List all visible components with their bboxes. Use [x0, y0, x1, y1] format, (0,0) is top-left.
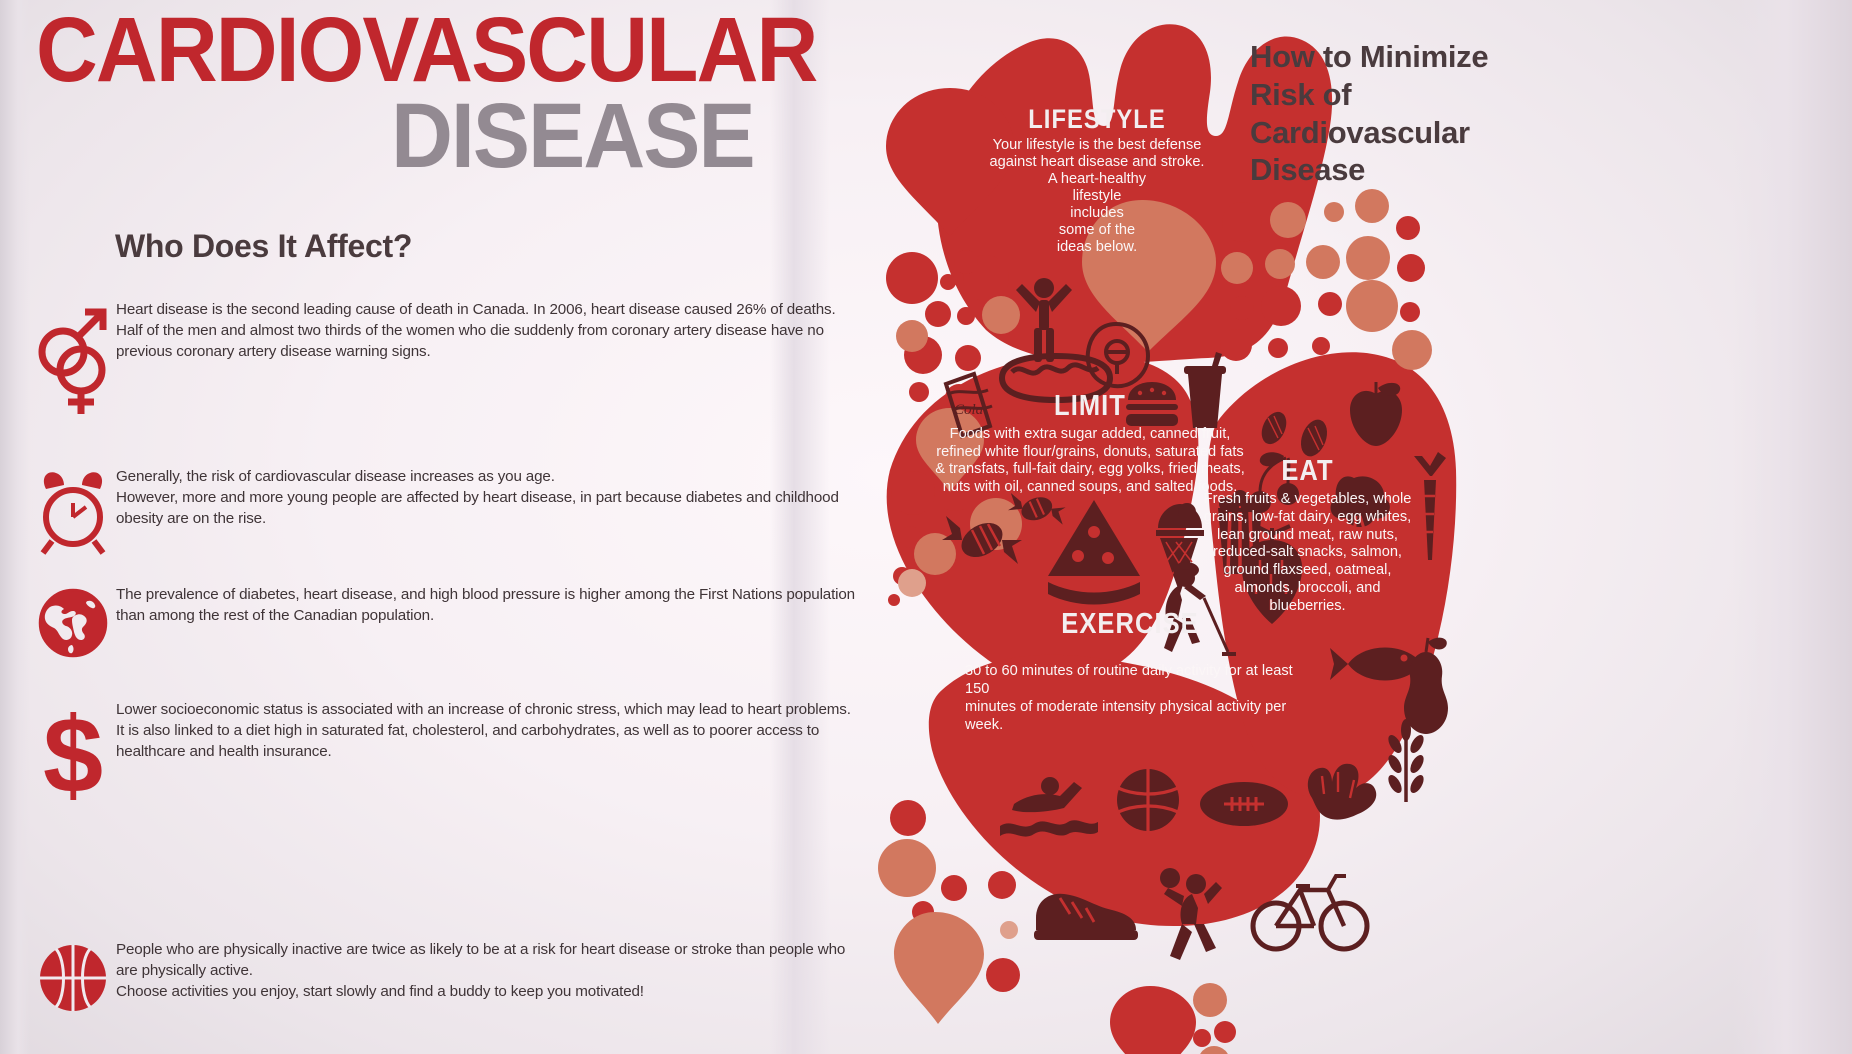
left-panel: CARDIOVASCULAR DISEASE Who Does It Affec… [0, 0, 790, 1054]
fact-text: The prevalence of diabetes, heart diseas… [116, 585, 776, 627]
alarm-clock-icon [36, 467, 110, 567]
basketball-icon [1117, 769, 1179, 831]
bubble [898, 569, 926, 597]
football-icon [1200, 782, 1288, 826]
gender-symbols-icon [36, 300, 110, 418]
svg-text:$: $ [43, 700, 103, 810]
right-header-title: How to Minimize Risk of Cardiovascular D… [1250, 38, 1540, 189]
bubble-cluster-bottom-center [1110, 983, 1236, 1054]
fact-text: People who are physically inactive are t… [116, 940, 776, 1003]
fact-row: Generally, the risk of cardiovascular di… [36, 467, 776, 567]
title-line-disease: DISEASE [88, 93, 776, 180]
fact-row: $ Lower socioeconomic status is associat… [36, 700, 776, 810]
fact-text: Generally, the risk of cardiovascular di… [116, 467, 776, 530]
right-panel: Cola [790, 0, 1852, 1054]
basketball-icon [36, 940, 110, 1016]
fact-row: People who are physically inactive are t… [36, 940, 776, 1016]
dollar-sign-icon: $ [36, 700, 110, 810]
fact-text: Heart disease is the second leading caus… [116, 300, 776, 363]
hamburger-icon [1126, 382, 1178, 426]
page-title: CARDIOVASCULAR DISEASE [36, 8, 776, 180]
fact-row: The prevalence of diabetes, heart diseas… [36, 585, 776, 661]
title-line-cardiovascular: CARDIOVASCULAR [36, 8, 724, 93]
fact-text: Lower socioeconomic status is associated… [116, 700, 776, 763]
who-does-it-affect-heading: Who Does It Affect? [115, 228, 412, 265]
globe-icon [36, 585, 110, 661]
svg-text:Cola: Cola [954, 402, 983, 418]
fact-row: Heart disease is the second leading caus… [36, 300, 776, 418]
